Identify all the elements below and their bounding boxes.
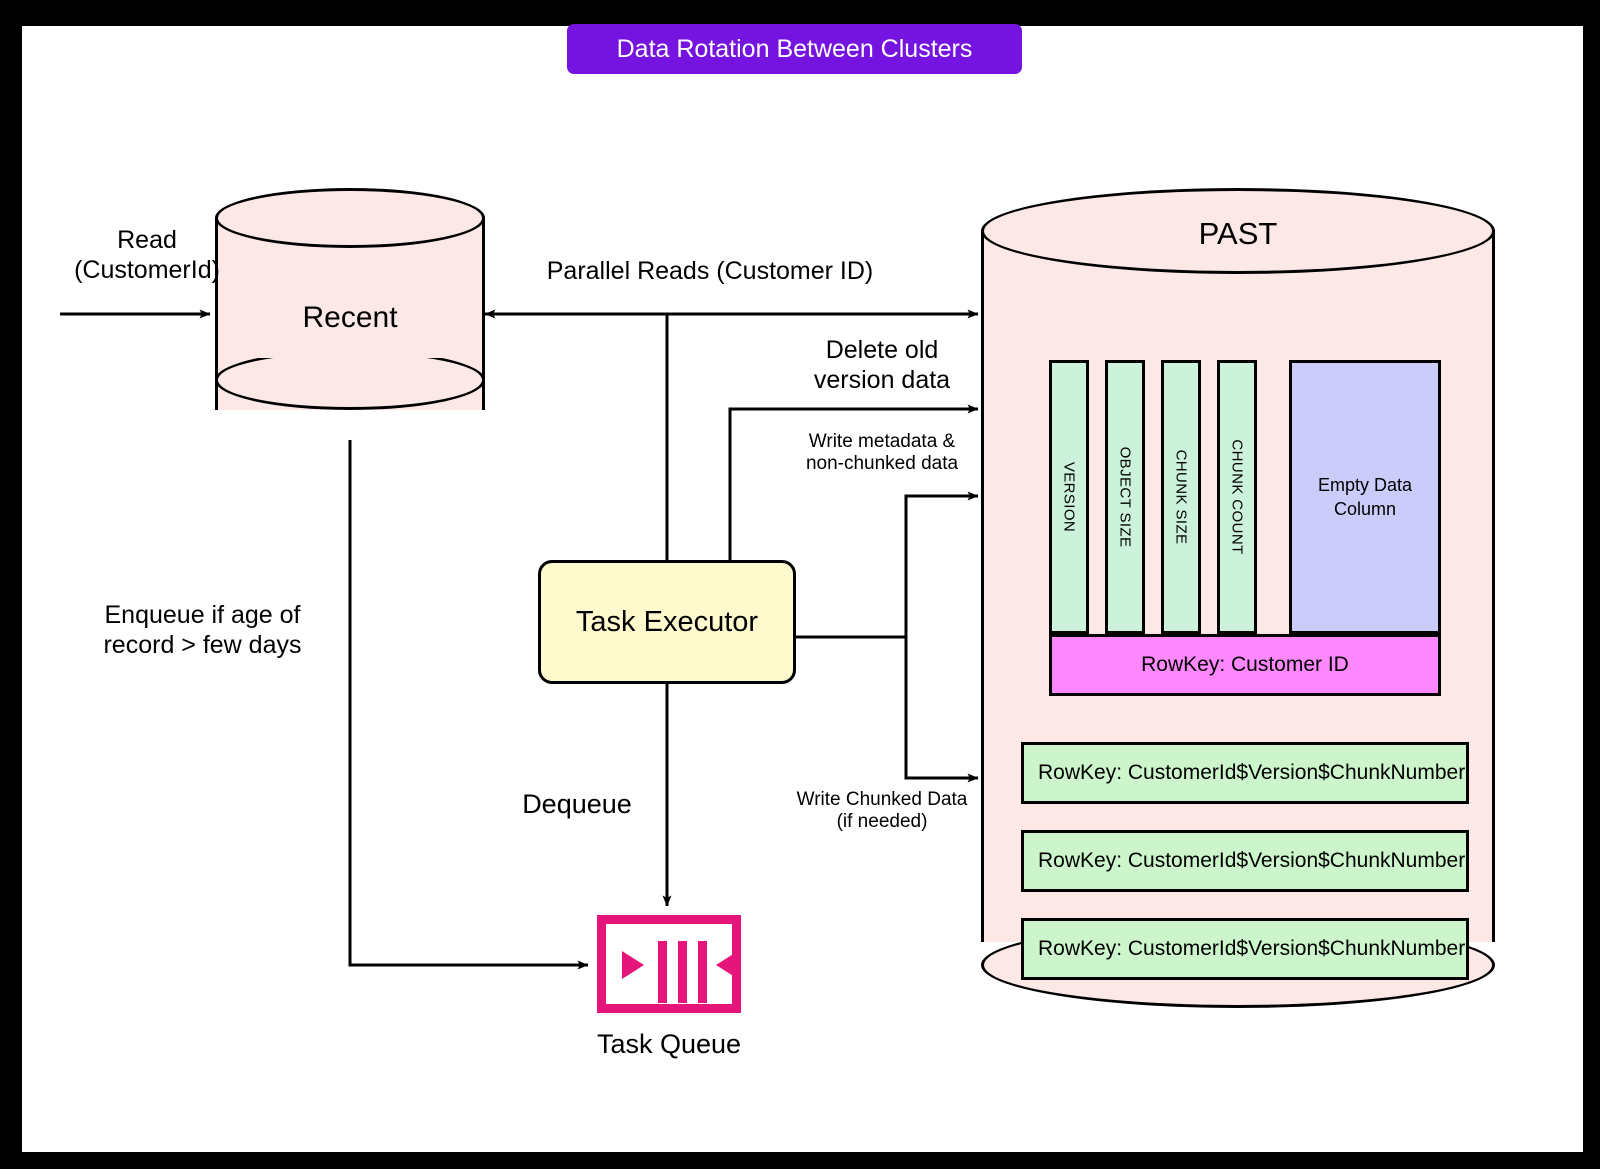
queue-bar-icon — [678, 941, 687, 1003]
past-column-chunk-count: CHUNK COUNT — [1217, 360, 1257, 634]
past-column-chunk-size-label: CHUNK SIZE — [1173, 450, 1190, 545]
chunk-row: RowKey: CustomerId$Version$ChunkNumber — [1021, 918, 1469, 980]
edge-label-write-chunked: Write Chunked Data (if needed) — [757, 789, 1007, 834]
edge-label-parallel-reads: Parallel Reads (Customer ID) — [490, 257, 930, 287]
past-column-object-size: OBJECT SIZE — [1105, 360, 1145, 634]
diagram-frame: Data Rotation Between Clusters Recent PA… — [22, 26, 1583, 1152]
edge-write-metadata — [906, 496, 978, 637]
edge-label-dequeue: Dequeue — [497, 789, 657, 821]
queue-bar-icon — [658, 941, 667, 1003]
play-left-triangle-icon — [716, 951, 738, 979]
edge-label-delete-old-version: Delete old version data — [762, 336, 1002, 395]
diagram-canvas: Data Rotation Between Clusters Recent PA… — [22, 26, 1583, 1152]
recent-cylinder-top — [215, 188, 485, 248]
play-right-triangle-icon — [622, 951, 644, 979]
queue-bar-icon — [698, 941, 707, 1003]
recent-cylinder-mask — [218, 348, 482, 358]
past-column-object-size-label: OBJECT SIZE — [1117, 447, 1134, 548]
past-column-version: VERSION — [1049, 360, 1089, 634]
past-cluster[interactable]: PAST VERSION OBJECT SIZE CHUNK SIZE CHUN… — [981, 188, 1495, 1008]
recent-cylinder-bottom — [215, 350, 485, 410]
chunk-row: RowKey: CustomerId$Version$ChunkNumber — [1021, 742, 1469, 804]
page-title: Data Rotation Between Clusters — [567, 24, 1022, 74]
chunk-row: RowKey: CustomerId$Version$ChunkNumber — [1021, 830, 1469, 892]
task-queue-label: Task Queue — [569, 1029, 769, 1061]
task-executor-node[interactable]: Task Executor — [538, 560, 796, 684]
past-column-chunk-size: CHUNK SIZE — [1161, 360, 1201, 634]
recent-cluster[interactable]: Recent — [215, 188, 485, 440]
edge-label-write-metadata: Write metadata & non-chunked data — [762, 431, 1002, 476]
recent-cluster-label: Recent — [215, 301, 485, 335]
rowkey-customer-id-row: RowKey: Customer ID — [1049, 634, 1441, 696]
past-column-chunk-count-label: CHUNK COUNT — [1229, 439, 1246, 554]
past-column-version-label: VERSION — [1061, 462, 1078, 532]
edge-label-read-customer-id: Read (CustomerId) — [42, 226, 252, 285]
edge-write-chunked — [906, 637, 978, 778]
empty-data-column: Empty Data Column — [1289, 360, 1441, 634]
past-cluster-label: PAST — [981, 216, 1495, 252]
edge-label-enqueue: Enqueue if age of record > few days — [70, 601, 335, 660]
task-queue-icon[interactable] — [597, 915, 741, 1013]
edge-enqueue-to-queue — [350, 440, 588, 965]
